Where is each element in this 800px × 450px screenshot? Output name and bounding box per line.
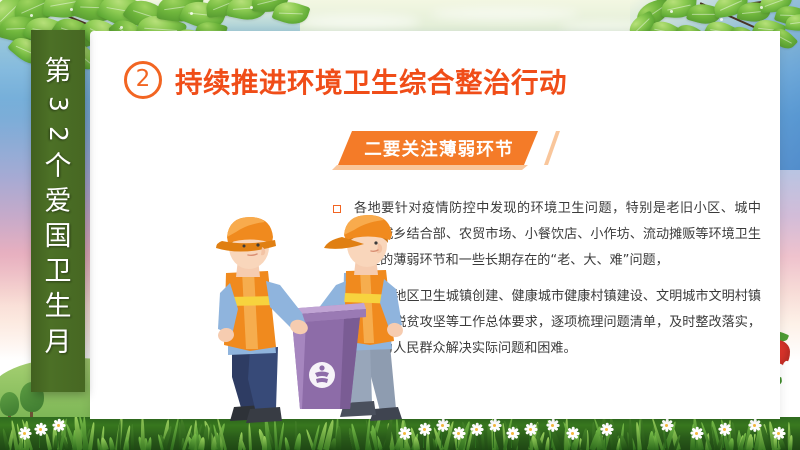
- dew-drop: [720, 18, 723, 21]
- daisy-stem: [457, 439, 458, 448]
- ribbon-underline: [332, 165, 528, 170]
- slide-canvas: 2 持续推进环境卫生综合整治行动 二要关注薄弱环节 各地要针对疫情防控中发现的环…: [0, 0, 800, 450]
- daisy-stem: [39, 435, 40, 448]
- content-card: 2 持续推进环境卫生综合整治行动 二要关注薄弱环节 各地要针对疫情防控中发现的环…: [90, 31, 780, 419]
- grass-blade: [628, 418, 633, 450]
- daisy-stem: [403, 439, 404, 448]
- grass-blade: [88, 422, 95, 450]
- daisy-flower: [772, 427, 785, 440]
- section-title: 2 持续推进环境卫生综合整治行动: [124, 60, 567, 100]
- daisy-stem: [723, 435, 724, 448]
- daisy-stem: [665, 431, 666, 448]
- workers-svg: [194, 213, 426, 435]
- dew-drop: [760, 6, 763, 9]
- daisy-flower: [52, 419, 65, 432]
- daisy-flower: [506, 427, 519, 440]
- grass-blade: [141, 417, 146, 450]
- daisy-stem: [529, 435, 530, 448]
- grass-blade: [108, 437, 115, 450]
- daisy-stem: [423, 435, 424, 448]
- section-number-badge: 2: [124, 61, 162, 99]
- sidebar-title-char: 爱: [45, 184, 72, 219]
- square-bullet-icon: [333, 205, 341, 213]
- ribbon-shape: 二要关注薄弱环节: [338, 131, 538, 165]
- sidebar-title-char: 卫: [45, 254, 72, 289]
- daisy-flower: [546, 419, 559, 432]
- daisy-flower: [718, 423, 731, 436]
- ribbon-banner: 二要关注薄弱环节: [338, 131, 538, 165]
- daisy-flower: [748, 419, 761, 432]
- daisy-flower: [660, 419, 673, 432]
- daisy-stem: [493, 431, 494, 448]
- daisy-flower: [600, 423, 613, 436]
- dew-drop: [70, 8, 73, 11]
- daisy-flower: [470, 423, 483, 436]
- daisy-stem: [57, 431, 58, 448]
- daisy-stem: [551, 431, 552, 448]
- dew-drop: [190, 12, 193, 15]
- daisy-flower: [690, 427, 703, 440]
- sidebar-title-char: 第: [45, 54, 72, 89]
- sidebar-title-char: 生: [45, 289, 72, 324]
- sanitation-workers-illustration: [194, 213, 426, 435]
- daisy-flower: [488, 419, 501, 432]
- sidebar-title-char: 月: [45, 325, 72, 360]
- sidebar-title-char: 国: [45, 219, 72, 254]
- daisy-stem: [605, 435, 606, 448]
- daisy-stem: [511, 439, 512, 448]
- cloud: [430, 8, 580, 20]
- ribbon-accent-stripe: [544, 131, 560, 165]
- grass-blade: [100, 436, 109, 450]
- grass-blade: [788, 435, 793, 450]
- sidebar-title-char: 3: [44, 96, 72, 112]
- daisy-stem: [753, 431, 754, 448]
- daisy-stem: [441, 431, 442, 448]
- daisy-flower: [566, 427, 579, 440]
- grass-blade: [648, 431, 654, 450]
- grass-blade: [413, 437, 421, 450]
- daisy-stem: [777, 439, 778, 448]
- dew-drop: [30, 14, 33, 17]
- grass-blade: [284, 437, 290, 450]
- daisy-stem: [23, 439, 24, 448]
- ribbon-label: 二要关注薄弱环节: [362, 136, 514, 161]
- page-title: 持续推进环境卫生综合整治行动: [175, 60, 567, 100]
- cloud: [300, 14, 420, 30]
- grass-blade: [130, 424, 133, 450]
- daisy-flower: [436, 419, 449, 432]
- tree-foliage: [0, 392, 19, 416]
- dew-drop: [120, 26, 123, 29]
- daisy-stem: [475, 435, 476, 448]
- dew-drop: [250, 6, 253, 9]
- daisy-flower: [18, 427, 31, 440]
- dew-drop: [670, 10, 673, 13]
- sidebar-vertical-title: 第32个爱国卫生月: [31, 30, 85, 392]
- sidebar-title-char: 2: [44, 126, 72, 142]
- daisy-flower: [34, 423, 47, 436]
- daisy-stem: [571, 439, 572, 448]
- daisy-flower: [524, 423, 537, 436]
- sidebar-title-text: 第32个爱国卫生月: [45, 54, 72, 360]
- daisy-flower: [452, 427, 465, 440]
- sidebar-title-char: 个: [45, 149, 72, 184]
- daisy-stem: [695, 439, 696, 448]
